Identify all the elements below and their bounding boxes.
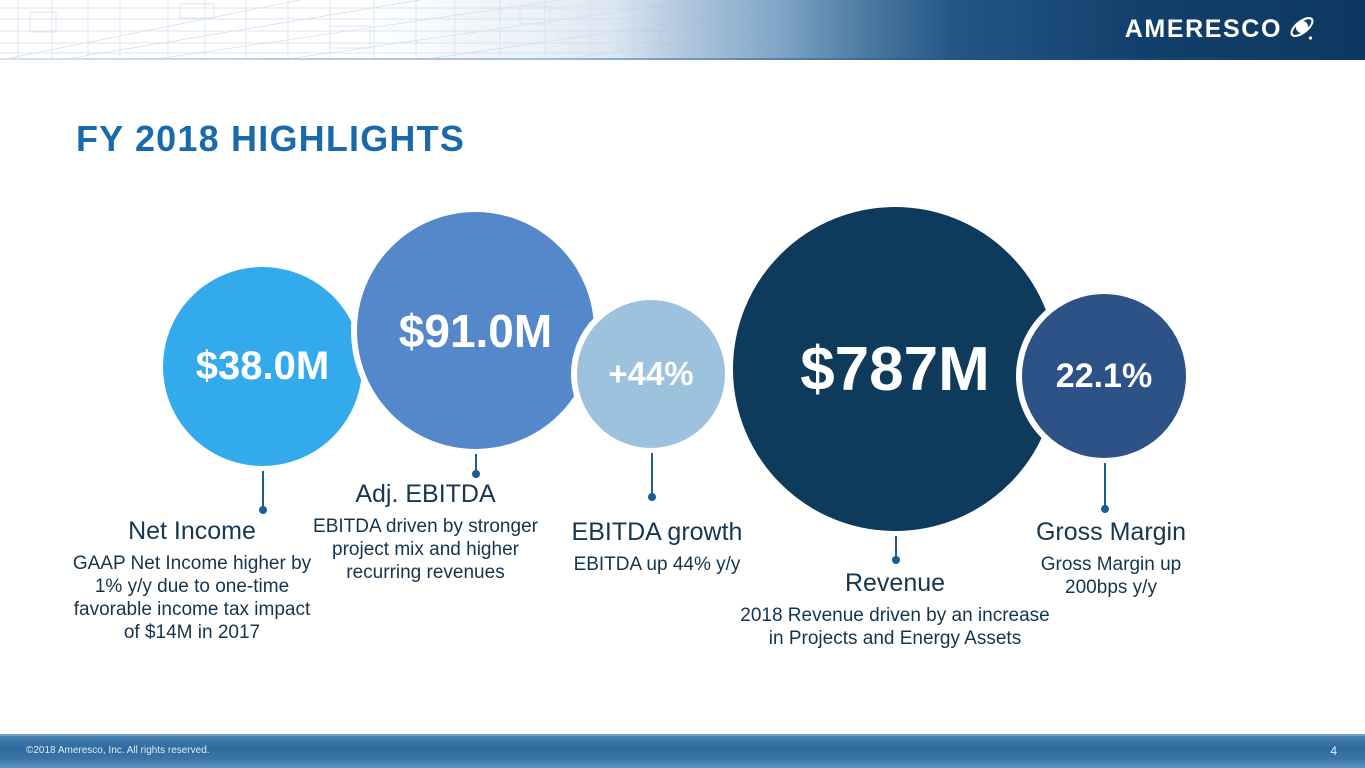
caption-ebitda-growth: EBITDA growth EBITDA up 44% y/y (548, 519, 766, 576)
connector-dot-adj-ebitda (472, 470, 480, 478)
caption-body-revenue: 2018 Revenue driven by an increase in Pr… (735, 604, 1055, 650)
bubble-value-gross-margin: 22.1% (1056, 357, 1152, 396)
footer-page-number: 4 (1330, 744, 1337, 758)
caption-body-gross-margin: Gross Margin up 200bps y/y (1013, 553, 1209, 599)
caption-gross-margin: Gross Margin Gross Margin up 200bps y/y (1013, 519, 1209, 599)
bubble-ebitda-growth[interactable]: +44% (571, 294, 731, 454)
connector-line-net-income (262, 471, 264, 510)
caption-body-net-income: GAAP Net Income higher by 1% y/y due to … (72, 552, 312, 645)
bubble-revenue[interactable]: $787M (727, 201, 1063, 537)
caption-title-gross-margin: Gross Margin (1013, 519, 1209, 547)
bubble-value-adj-ebitda: $91.0M (399, 304, 552, 358)
caption-adj-ebitda: Adj. EBITDA EBITDA driven by stronger pr… (313, 481, 538, 584)
bubble-adj-ebitda[interactable]: $91.0M (351, 206, 600, 455)
connector-dot-net-income (259, 506, 267, 514)
bubble-value-net-income: $38.0M (196, 344, 329, 389)
caption-net-income: Net Income GAAP Net Income higher by 1% … (72, 518, 312, 644)
connector-dot-revenue (892, 556, 900, 564)
footer-copyright: ©2018 Ameresco, Inc. All rights reserved… (26, 745, 210, 756)
bubble-chart: $38.0M $91.0M +44% $787M 22.1% (0, 0, 1365, 768)
bubble-value-ebitda-growth: +44% (608, 355, 693, 393)
caption-title-adj-ebitda: Adj. EBITDA (313, 481, 538, 509)
caption-revenue: Revenue 2018 Revenue driven by an increa… (735, 570, 1055, 650)
connector-dot-ebitda-growth (648, 493, 656, 501)
caption-title-ebitda-growth: EBITDA growth (548, 519, 766, 547)
slide-footer: ©2018 Ameresco, Inc. All rights reserved… (0, 734, 1365, 768)
caption-title-revenue: Revenue (735, 570, 1055, 598)
connector-dot-gross-margin (1101, 505, 1109, 513)
caption-body-adj-ebitda: EBITDA driven by stronger project mix an… (313, 515, 538, 585)
caption-body-ebitda-growth: EBITDA up 44% y/y (548, 553, 766, 576)
connector-line-gross-margin (1104, 463, 1106, 509)
bubble-net-income[interactable]: $38.0M (157, 261, 368, 472)
connector-line-ebitda-growth (651, 453, 653, 497)
bubble-value-revenue: $787M (800, 334, 990, 405)
caption-title-net-income: Net Income (72, 518, 312, 546)
footer-top-rule (0, 734, 1365, 736)
bubble-gross-margin[interactable]: 22.1% (1016, 288, 1192, 464)
